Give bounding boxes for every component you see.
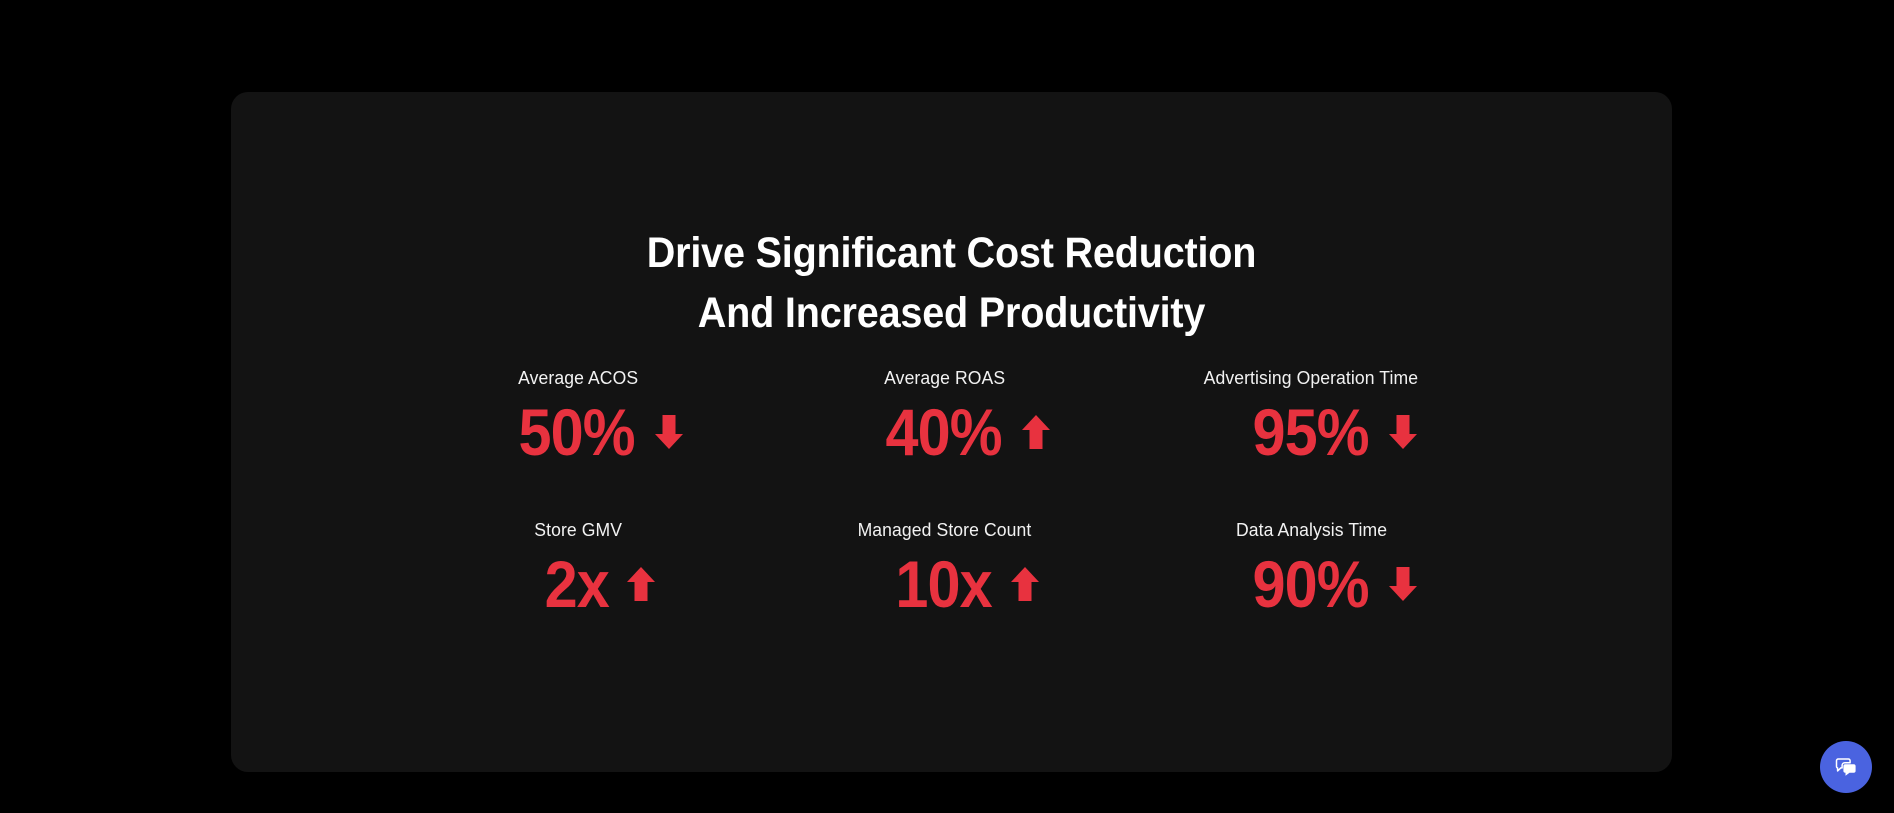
arrow-down-icon: [1388, 566, 1418, 602]
stat-label: Store GMV: [534, 519, 622, 541]
stat-cell: Advertising Operation Time95%: [1148, 367, 1515, 469]
arrow-up-icon: [1010, 566, 1040, 602]
stat-value-row: 95%: [1246, 395, 1418, 469]
stat-value: 40%: [885, 395, 1001, 469]
arrow-down-icon: [1388, 414, 1418, 450]
stat-label: Advertising Operation Time: [1204, 367, 1418, 389]
stats-grid: Average ACOS50%Average ROAS40%Advertisin…: [415, 367, 1515, 621]
chat-bubbles-icon: [1833, 754, 1859, 780]
stat-cell: Store GMV2x: [415, 519, 782, 621]
stat-cell: Average ROAS40%: [782, 367, 1149, 469]
stat-value-row: 90%: [1246, 547, 1418, 621]
stat-value: 95%: [1252, 395, 1368, 469]
chat-launcher-button[interactable]: [1820, 741, 1872, 793]
stat-cell: Average ACOS50%: [415, 367, 782, 469]
stat-value: 90%: [1252, 547, 1368, 621]
stat-value: 10x: [895, 547, 991, 621]
stat-value-row: 10x: [890, 547, 1040, 621]
stat-value-row: 2x: [541, 547, 655, 621]
stat-label: Average ROAS: [884, 367, 1005, 389]
stat-value-row: 50%: [512, 395, 684, 469]
stat-cell: Data Analysis Time90%: [1148, 519, 1515, 621]
stat-label: Managed Store Count: [858, 519, 1032, 541]
stat-value: 2x: [545, 547, 609, 621]
arrow-down-icon: [654, 414, 684, 450]
stat-value-row: 40%: [879, 395, 1051, 469]
arrow-up-icon: [626, 566, 656, 602]
stat-label: Average ACOS: [518, 367, 638, 389]
stats-card: Drive Significant Cost Reduction And Inc…: [231, 92, 1672, 772]
arrow-up-icon: [1021, 414, 1051, 450]
page-title: Drive Significant Cost Reduction And Inc…: [289, 223, 1615, 343]
stat-cell: Managed Store Count10x: [782, 519, 1149, 621]
stat-label: Data Analysis Time: [1236, 519, 1387, 541]
stat-value: 50%: [519, 395, 635, 469]
